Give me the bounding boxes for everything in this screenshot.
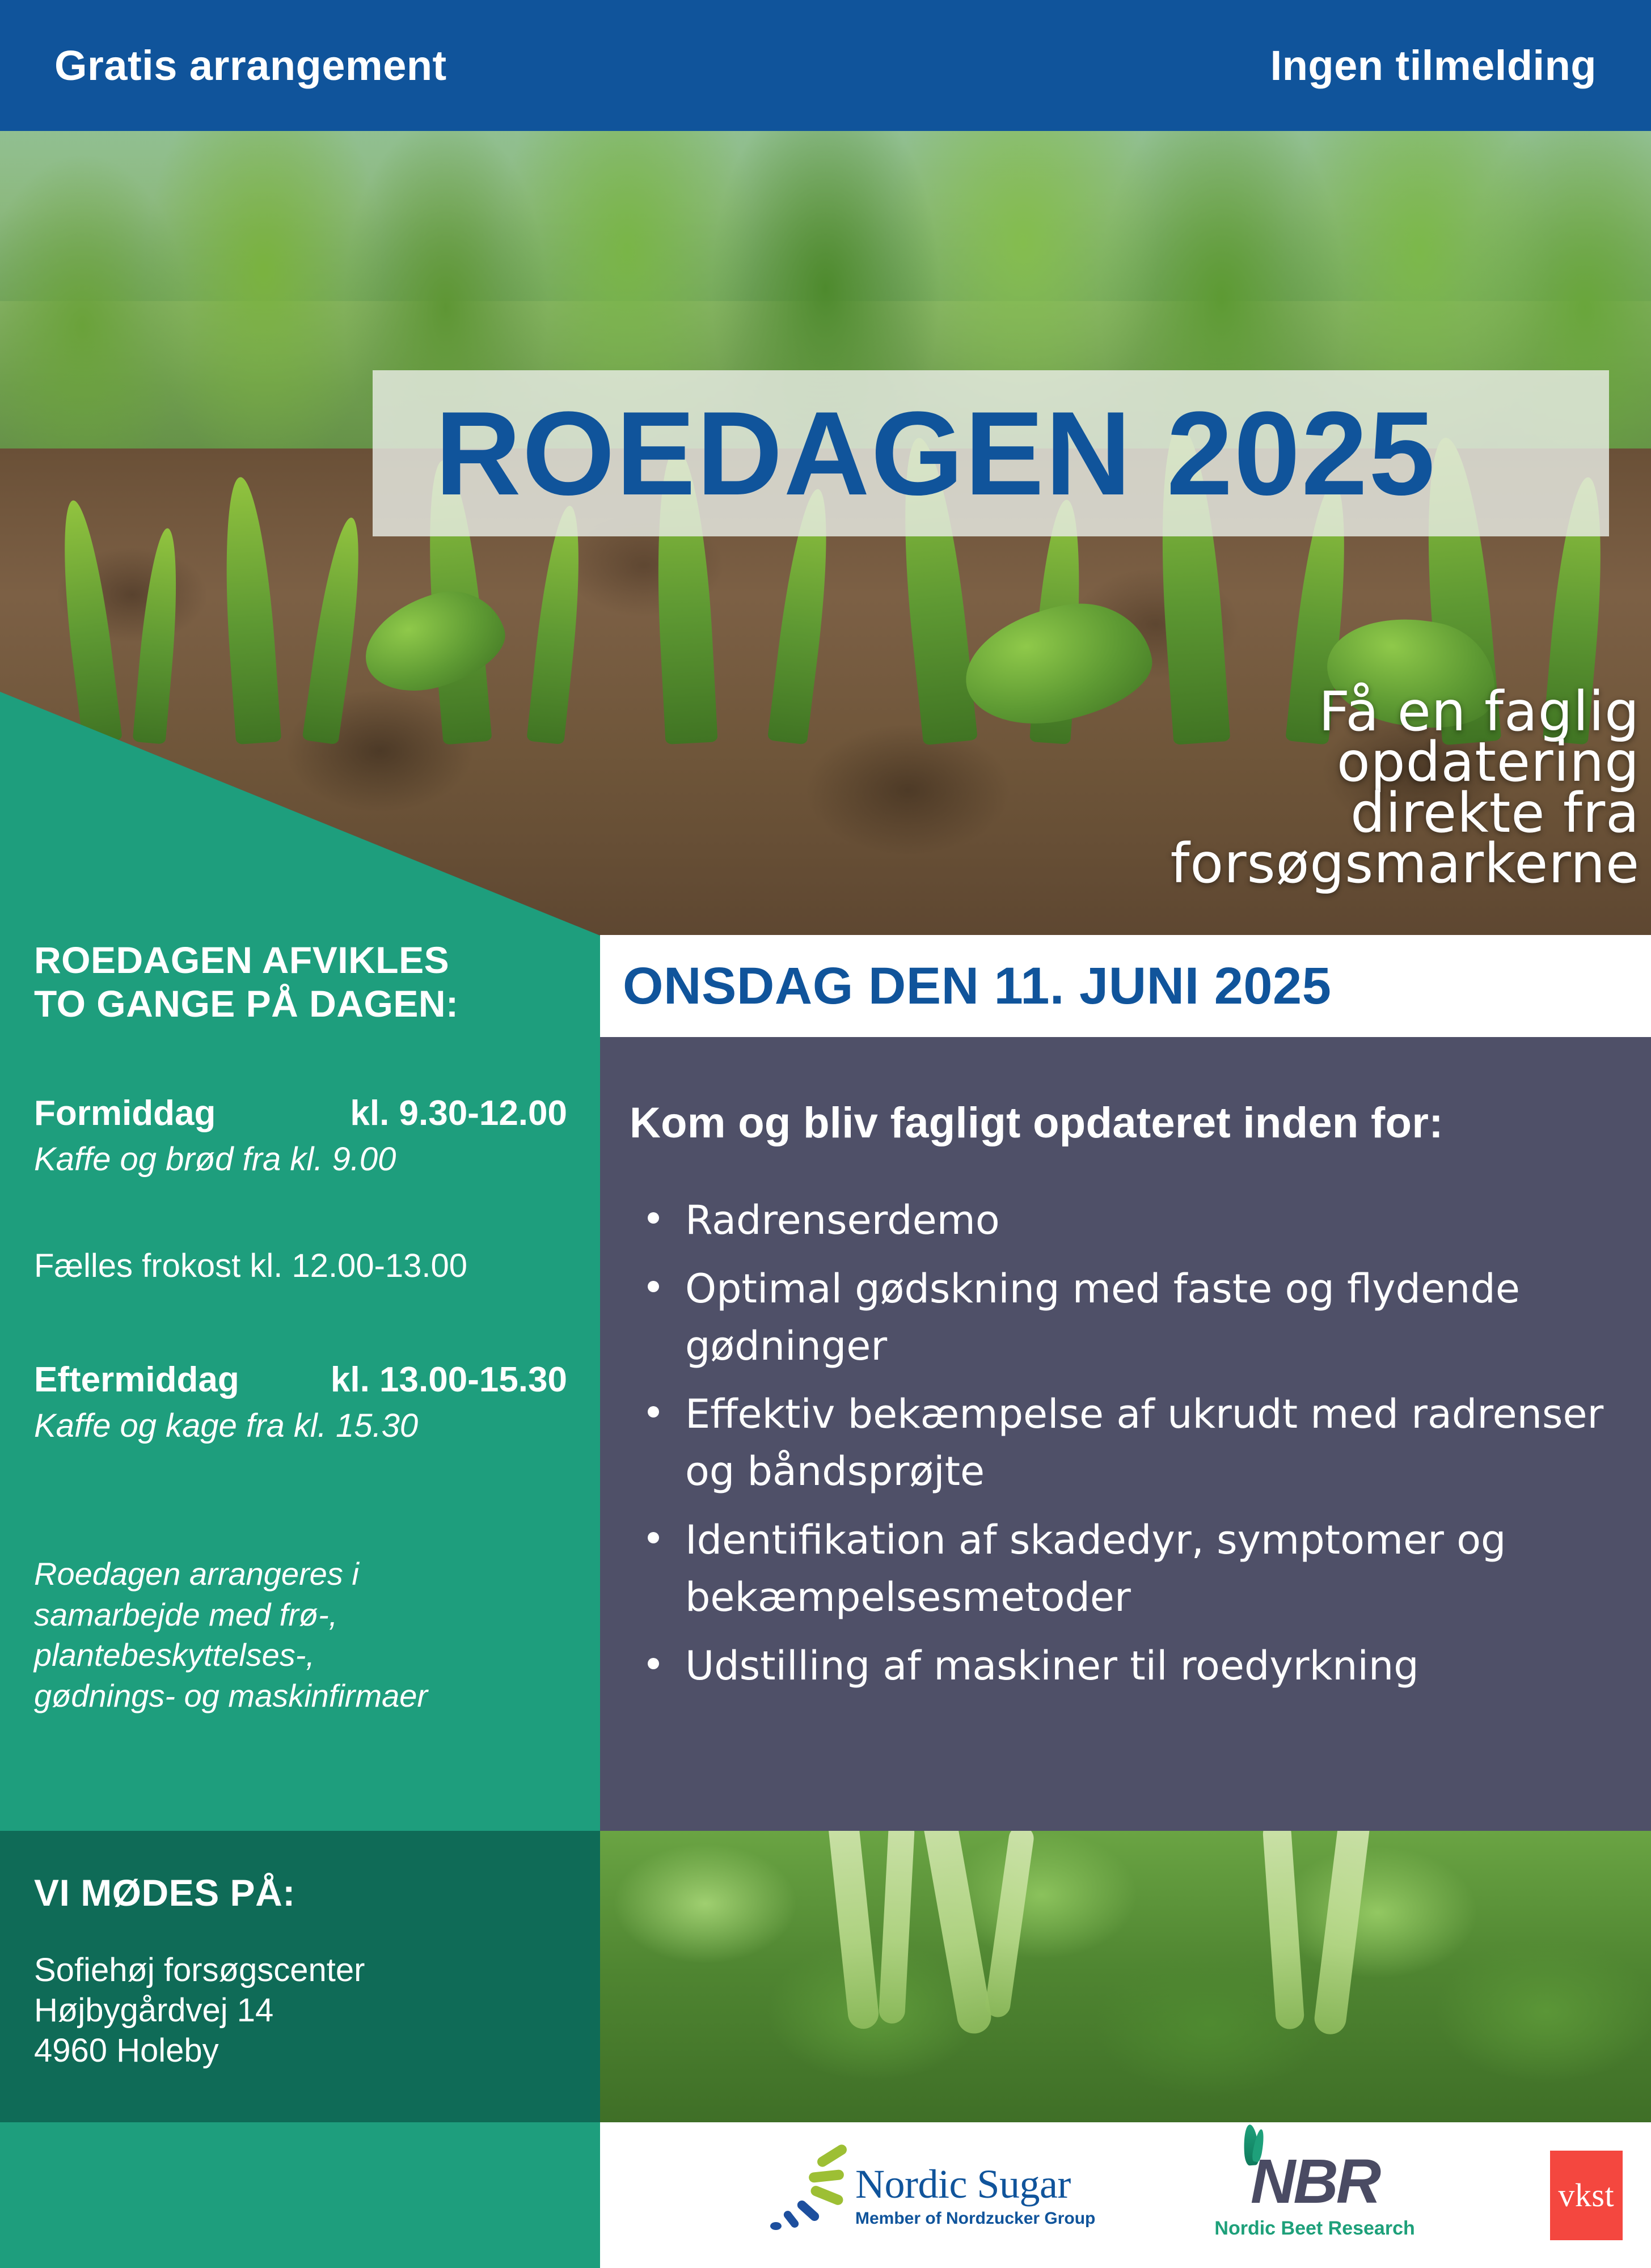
tagline-line-1: Få en faglig	[789, 687, 1640, 737]
venue-address-line-3: 4960 Holeby	[34, 2031, 567, 2071]
tagline-line-2: opdatering	[789, 737, 1640, 788]
afternoon-label: Eftermiddag	[34, 1361, 239, 1399]
bottom-beet-photo	[600, 1831, 1651, 2122]
nbr-logo: NBR Nordic Beet Research	[1214, 2151, 1414, 2240]
list-item: Radrenserdemo	[685, 1192, 1611, 1249]
schedule-heading-line2: TO GANGE PÅ DAGEN:	[34, 982, 567, 1026]
venue-address-line-1: Sofiehøj forsøgscenter	[34, 1950, 567, 1991]
nbr-acronym: NBR	[1214, 2151, 1414, 2213]
venue-address-line-2: Højbygårdvej 14	[34, 1991, 567, 2031]
venue-address: Sofiehøj forsøgscenter Højbygårdvej 14 4…	[34, 1950, 567, 2071]
tagline-line-3: direkte fra	[789, 788, 1640, 839]
schedule-heading: ROEDAGEN AFVIKLES TO GANGE PÅ DAGEN:	[34, 938, 567, 1025]
nbr-fullname: Nordic Beet Research	[1214, 2218, 1414, 2240]
poster-title-box: ROEDAGEN 2025	[373, 370, 1609, 536]
event-date: ONSDAG DEN 11. JUNI 2025	[600, 957, 1331, 1016]
schedule-heading-line1: ROEDAGEN AFVIKLES	[34, 938, 567, 982]
partners-line-4: gødnings- og maskinfirmaer	[34, 1675, 567, 1716]
topics-heading: Kom og bliv fagligt opdateret inden for:	[600, 1037, 1651, 1148]
afternoon-row: Eftermiddag kl. 13.00-15.30	[34, 1361, 567, 1399]
vkst-logo: vkst	[1550, 2151, 1623, 2240]
venue-heading-label: VI MØDES PÅ:	[34, 1871, 567, 1915]
list-item: Udstilling af maskiner til roedyrkning	[685, 1637, 1611, 1695]
lunch-label: Fælles frokost kl. 12.00-13.00	[34, 1247, 567, 1285]
hero-tagline: Få en faglig opdatering direkte fra fors…	[789, 687, 1640, 889]
tagline-line-4: forsøgsmarkerne	[789, 839, 1640, 889]
nordic-sugar-name: Nordic Sugar	[855, 2164, 1095, 2204]
list-item: Optimal gødskning med faste og flydende …	[685, 1260, 1611, 1375]
topics-list: Radrenserdemo Optimal gødskning med fast…	[600, 1148, 1651, 1694]
partners-note: Roedagen arrangeres i samarbejde med frø…	[34, 1554, 567, 1716]
lunch-row: Fælles frokost kl. 12.00-13.00	[34, 1247, 567, 1285]
poster-root: Gratis arrangement Ingen tilmelding	[0, 0, 1651, 2268]
list-item: Identifikation af skadedyr, symptomer og…	[685, 1512, 1611, 1626]
morning-label: Formiddag	[34, 1094, 216, 1133]
footer-logos: Nordic Sugar Member of Nordzucker Group …	[600, 2122, 1651, 2268]
morning-time: kl. 9.30-12.00	[350, 1094, 567, 1133]
morning-session: Formiddag kl. 9.30-12.00 Kaffe og brød f…	[34, 1094, 567, 1179]
left-footer-strip	[0, 2122, 600, 2268]
banner-left-label: Gratis arrangement	[54, 41, 447, 90]
partners-line-1: Roedagen arrangeres i	[34, 1554, 567, 1594]
nordic-sugar-tagline: Member of Nordzucker Group	[855, 2210, 1095, 2227]
vkst-wordmark: vkst	[1558, 2176, 1614, 2214]
morning-note: Kaffe og brød fra kl. 9.00	[34, 1141, 567, 1179]
afternoon-session: Eftermiddag kl. 13.00-15.30 Kaffe og kag…	[34, 1361, 567, 1445]
venue-heading: VI MØDES PÅ:	[34, 1871, 567, 1915]
banner-right-label: Ingen tilmelding	[1270, 41, 1597, 90]
date-band: ONSDAG DEN 11. JUNI 2025	[600, 935, 1651, 1037]
afternoon-time: kl. 13.00-15.30	[331, 1361, 567, 1399]
page-title: ROEDAGEN 2025	[373, 394, 1436, 513]
partners-line-2: samarbejde med frø-,	[34, 1594, 567, 1635]
afternoon-note: Kaffe og kage fra kl. 15.30	[34, 1407, 567, 1445]
topics-panel: Kom og bliv fagligt opdateret inden for:…	[600, 1037, 1651, 1831]
nordic-sugar-logo: Nordic Sugar Member of Nordzucker Group	[760, 2147, 1095, 2244]
nordic-sugar-wordmark: Nordic Sugar Member of Nordzucker Group	[855, 2164, 1095, 2227]
morning-row: Formiddag kl. 9.30-12.00	[34, 1094, 567, 1133]
partners-line-3: plantebeskyttelses-,	[34, 1635, 567, 1675]
nordic-sugar-mark-icon	[760, 2147, 845, 2244]
list-item: Effektiv bekæmpelse af ukrudt med radren…	[685, 1386, 1611, 1500]
top-banner: Gratis arrangement Ingen tilmelding	[0, 0, 1651, 131]
